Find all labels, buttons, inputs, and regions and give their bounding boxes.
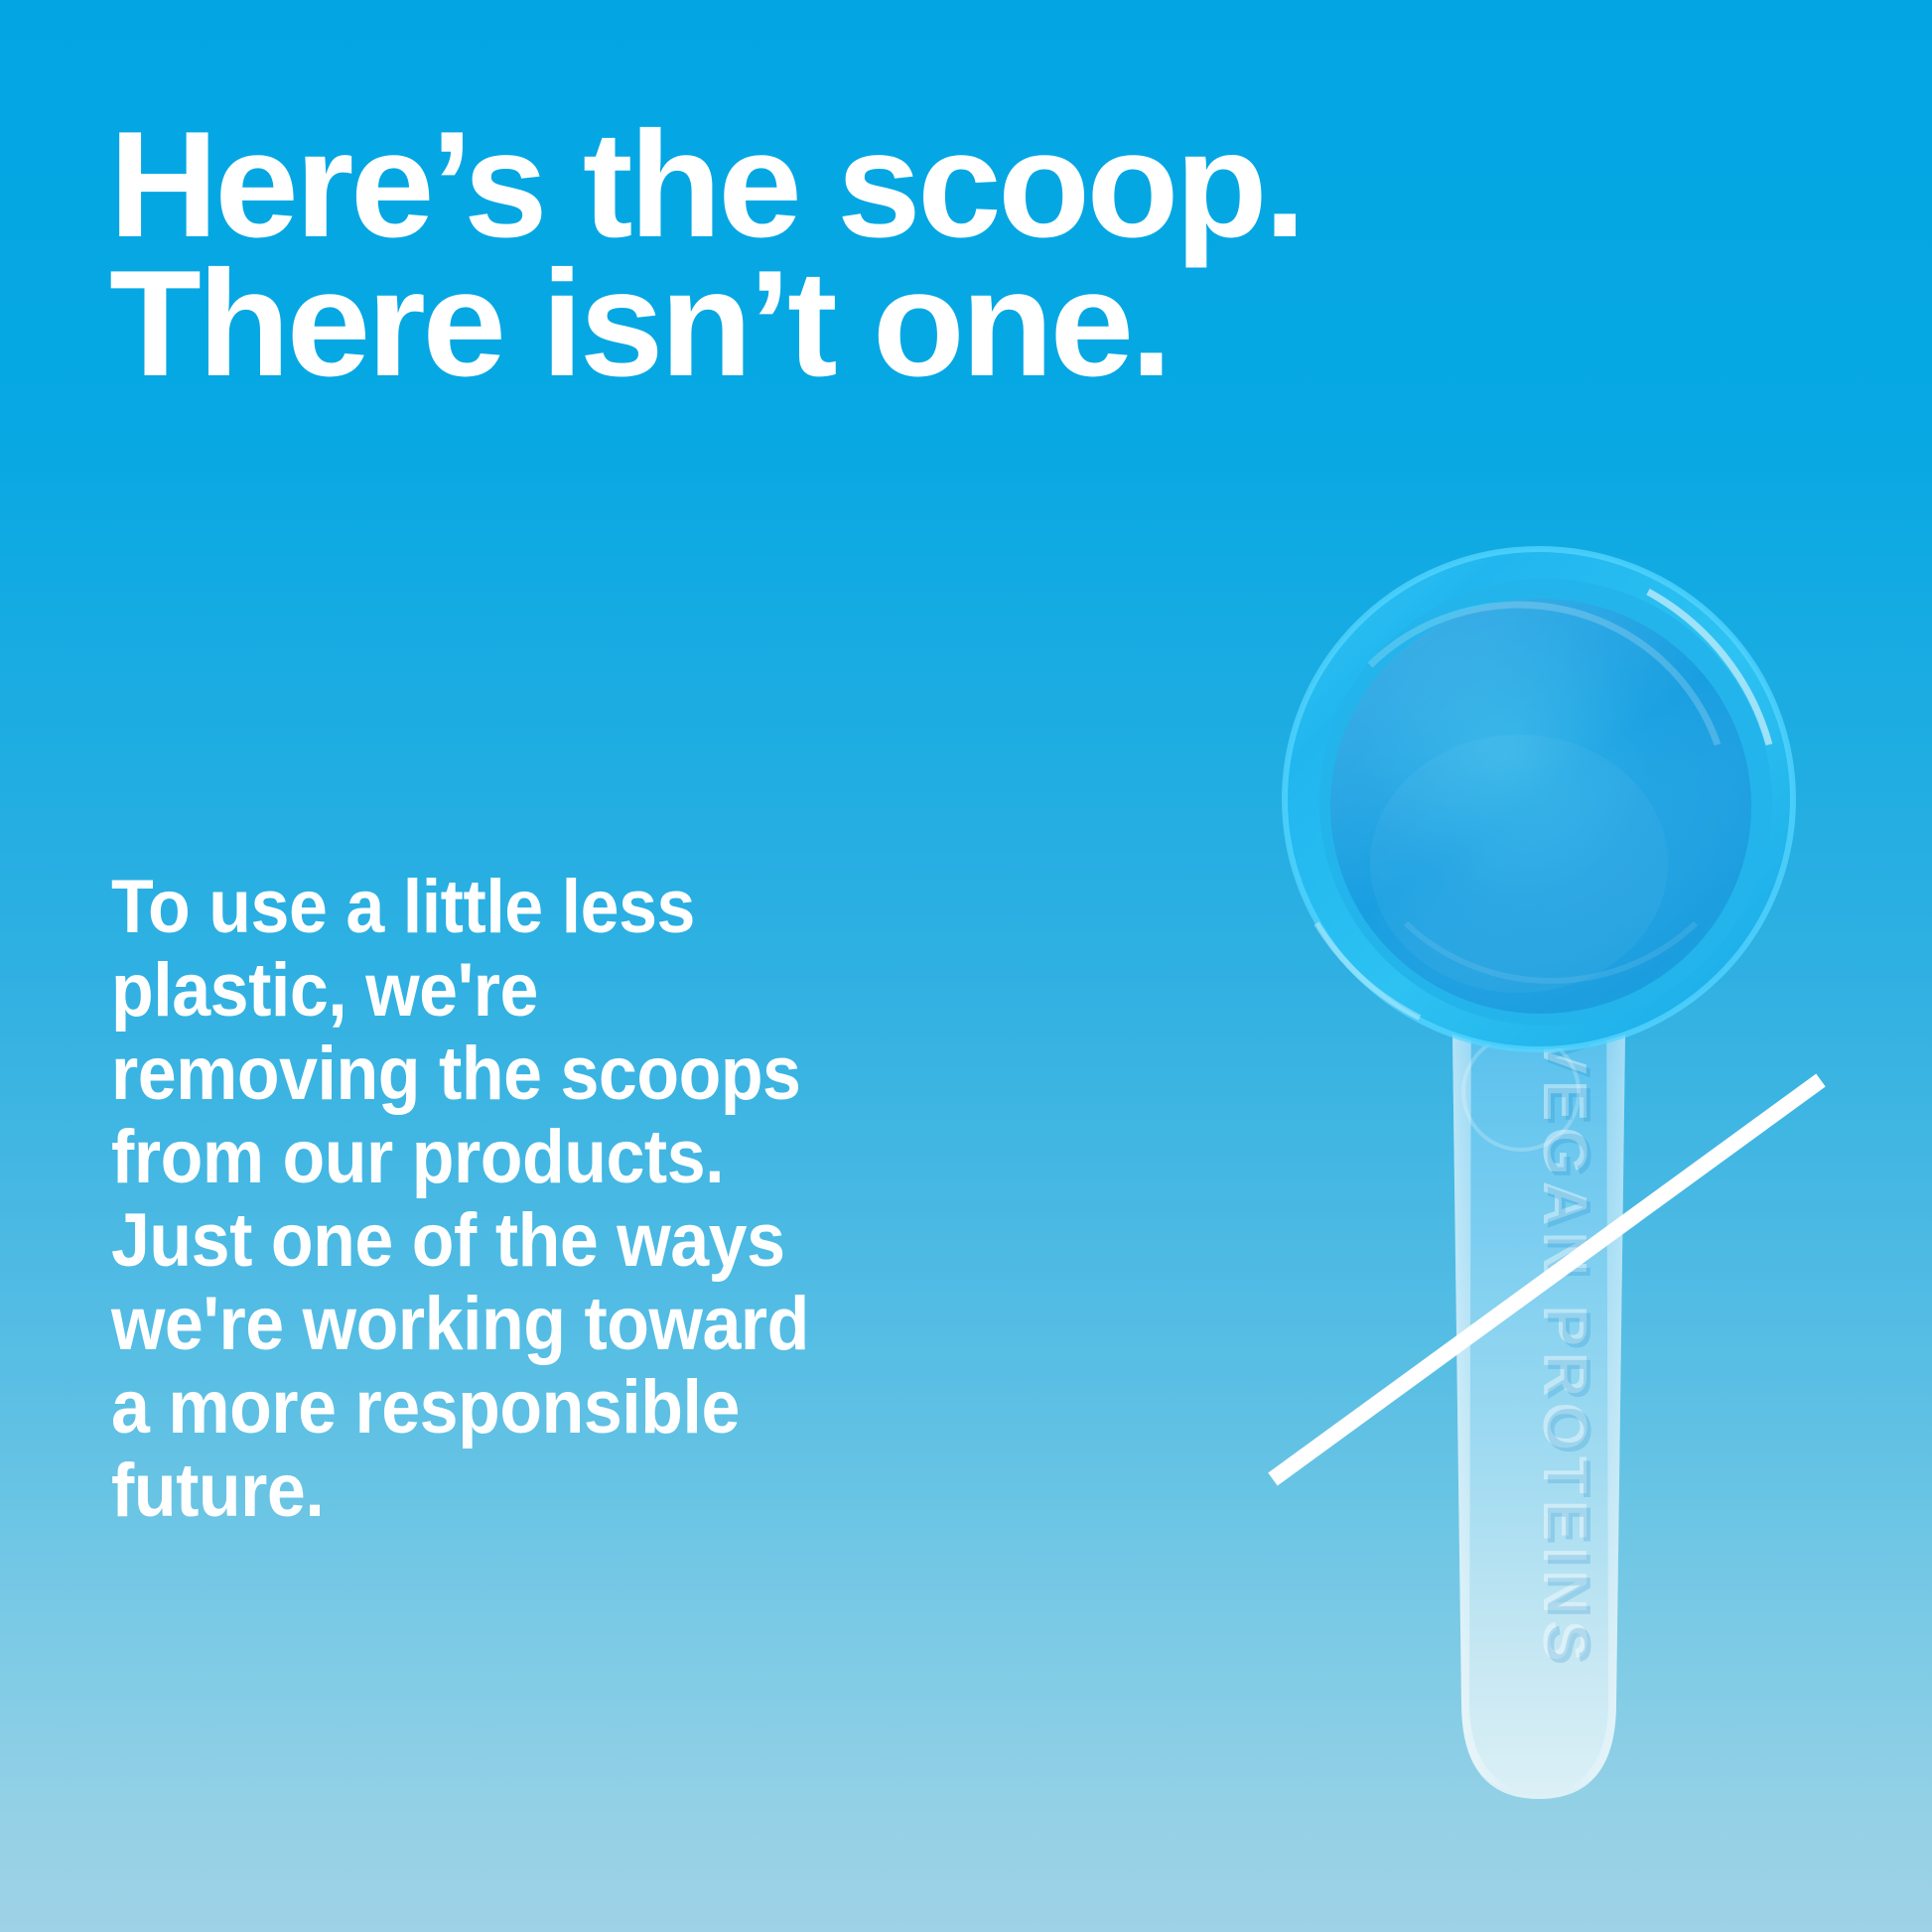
- poster-canvas: Here’s the scoop. There isn’t one. To us…: [0, 0, 1932, 1932]
- page-title: Here’s the scoop. There isn’t one.: [109, 115, 1303, 393]
- scoop-bowl: [1285, 549, 1793, 1049]
- measuring-scoop-image: VEGAN PROTEINS VEGAN PROTEINS: [1221, 496, 1857, 1847]
- svg-text:VEGAN PROTEINS: VEGAN PROTEINS: [1534, 1037, 1602, 1672]
- body-copy: To use a little less plastic, we're remo…: [111, 866, 842, 1533]
- scoop-handle: VEGAN PROTEINS VEGAN PROTEINS: [1451, 963, 1626, 1799]
